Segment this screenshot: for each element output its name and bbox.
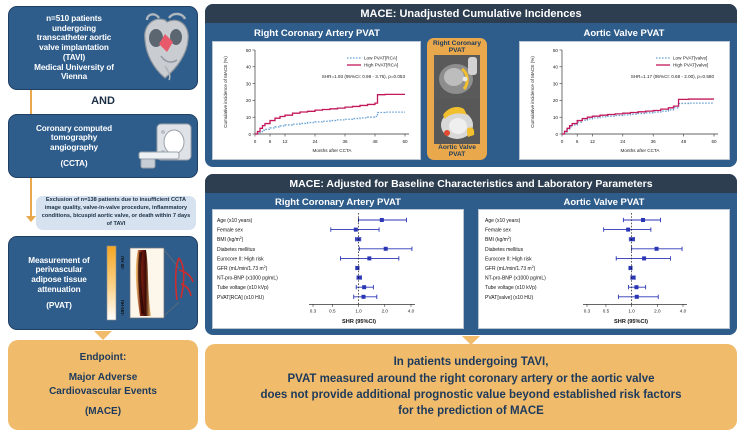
cohort-line-3: transcatheter aortic xyxy=(13,33,135,43)
colorbar-bottom-label: -190 HU xyxy=(120,300,125,316)
and-label: AND xyxy=(8,95,198,107)
measurement-line-5: (PVAT) xyxy=(13,301,105,311)
endpoint-card: Endpoint: Major Adverse Cardiovascular E… xyxy=(8,340,198,430)
svg-text:BMI (kg/m2): BMI (kg/m2) xyxy=(217,236,244,243)
svg-text:40: 40 xyxy=(553,65,559,70)
endpoint-line-2: Major Adverse xyxy=(49,371,157,386)
svg-text:Diabetes mellitus: Diabetes mellitus xyxy=(217,247,256,253)
km-rca-xticks: 061224364860 xyxy=(254,134,408,144)
svg-text:Tube voltage (x10 kVp): Tube voltage (x10 kVp) xyxy=(217,285,269,291)
svg-text:PVAT[valve] (x10 HU): PVAT[valve] (x10 HU) xyxy=(485,295,533,301)
svg-text:30: 30 xyxy=(553,81,559,86)
svg-text:0: 0 xyxy=(248,132,251,137)
forest-valve-subtitle: Aortic Valve PVAT xyxy=(478,197,730,208)
svg-text:10: 10 xyxy=(246,115,252,120)
imaging-line-2: tomography xyxy=(13,133,135,143)
svg-text:6: 6 xyxy=(576,139,579,144)
km-rca-legend: Low PVAT[RCA]High PVAT[RCA] xyxy=(347,56,398,68)
colorbar-top-label: -30 HU xyxy=(120,256,125,270)
forest-valve-xlabel: SHR (95%CI) xyxy=(614,319,648,325)
svg-text:Diabetes mellitus: Diabetes mellitus xyxy=(485,247,524,253)
km-valve-ylabel: Cumulative incidence of MACE (%) xyxy=(530,56,535,128)
connector-imaging-to-exclusion xyxy=(30,178,32,216)
svg-text:PVAT[RCA] (x10 HU): PVAT[RCA] (x10 HU) xyxy=(217,295,264,301)
measurement-line-3: adipose tissue xyxy=(13,275,105,285)
forest-valve-plot: Age (x10 years)Female sexBMI (kg/m2)Diab… xyxy=(478,209,730,329)
svg-text:20: 20 xyxy=(246,98,252,103)
svg-text:Female sex: Female sex xyxy=(217,228,243,234)
heart-anatomy-icon xyxy=(135,10,197,86)
svg-text:10: 10 xyxy=(553,115,559,120)
svg-text:Eurocore II: High risk: Eurocore II: High risk xyxy=(485,256,532,262)
svg-text:36: 36 xyxy=(342,139,348,144)
svg-text:High PVAT[RCA]: High PVAT[RCA] xyxy=(364,63,398,68)
svg-text:4.0: 4.0 xyxy=(408,308,415,313)
ct-bottom-caption: Aortic Valve PVAT xyxy=(429,144,485,159)
svg-text:20: 20 xyxy=(553,98,559,103)
km-rca-yticks: 01020304050 xyxy=(246,48,255,137)
km-rca-series xyxy=(255,94,405,134)
exclusion-box: Exclusion of n=138 patients due to insuf… xyxy=(36,196,196,230)
ct-image-valve xyxy=(434,99,480,144)
imaging-line-4: (CCTA) xyxy=(13,159,135,169)
km-valve-plot: 01020304050 061224364860 Cumulative inci… xyxy=(519,41,730,160)
km-rca-subtitle: Right Coronary Artery PVAT xyxy=(212,28,422,39)
forest-rca-svg: Age (x10 years)Female sexBMI (kg/m2)Diab… xyxy=(213,210,463,328)
arrow-to-measurement xyxy=(26,216,36,222)
svg-text:GFR (mL/min/1.73 m2): GFR (mL/min/1.73 m2) xyxy=(485,265,536,272)
svg-text:Age (x10 years): Age (x10 years) xyxy=(485,218,521,224)
km-valve-yticks: 01020304050 xyxy=(553,48,562,137)
forest-rca-subtitle: Right Coronary Artery PVAT xyxy=(212,197,464,208)
forest-rca-xlabel: SHR (95%CI) xyxy=(342,319,376,325)
measurement-card: Measurement of perivascular adipose tiss… xyxy=(8,236,198,330)
svg-text:24: 24 xyxy=(620,139,626,144)
endpoint-line-1: Endpoint: xyxy=(49,351,157,366)
svg-text:6: 6 xyxy=(269,139,272,144)
svg-text:NT-pro-BNP (x1000 pg/mL): NT-pro-BNP (x1000 pg/mL) xyxy=(217,276,278,282)
svg-text:0: 0 xyxy=(555,132,558,137)
imaging-line-3: angiography xyxy=(13,143,135,153)
forest-rca-rows: Age (x10 years)Female sexBMI (kg/m2)Diab… xyxy=(217,218,412,301)
forest-valve-svg: Age (x10 years)Female sexBMI (kg/m2)Diab… xyxy=(479,210,729,328)
svg-text:BMI (kg/m2): BMI (kg/m2) xyxy=(485,236,512,243)
conclusion-line-3: does not provide additional prognostic v… xyxy=(260,387,681,403)
forest-valve-rows: Age (x10 years)Female sexBMI (kg/m2)Diab… xyxy=(485,218,682,301)
conclusion-line-1: In patients undergoing TAVI, xyxy=(260,354,681,370)
cohort-line-1: n=510 patients xyxy=(13,14,135,24)
arrow-to-endpoint xyxy=(94,331,112,340)
endpoint-line-4: (MACE) xyxy=(49,405,157,420)
imaging-line-1: Coronary computed xyxy=(13,124,135,134)
svg-text:GFR (mL/min/1.73 m2): GFR (mL/min/1.73 m2) xyxy=(217,265,268,272)
svg-text:50: 50 xyxy=(246,48,252,53)
km-valve-svg: 01020304050 061224364860 Cumulative inci… xyxy=(520,42,729,159)
svg-text:0.5: 0.5 xyxy=(329,308,336,313)
svg-text:40: 40 xyxy=(246,65,252,70)
conclusion-line-2: PVAT measured around the right coronary … xyxy=(260,371,681,387)
svg-text:0: 0 xyxy=(561,139,564,144)
endpoint-line-3: Cardiovascular Events xyxy=(49,385,157,400)
cohort-card: n=510 patients undergoing transcatheter … xyxy=(8,6,198,90)
pvat-attenuation-figure: -30 HU -190 HU xyxy=(105,240,197,326)
km-rca-ylabel: Cumulative incidence of MACE (%) xyxy=(223,56,228,128)
ct-top-caption: Right Coronary PVAT xyxy=(429,40,485,55)
svg-text:1.0: 1.0 xyxy=(628,308,635,313)
svg-text:0: 0 xyxy=(254,139,257,144)
svg-text:48: 48 xyxy=(372,139,378,144)
svg-text:1.0: 1.0 xyxy=(355,308,362,313)
svg-text:2.0: 2.0 xyxy=(382,308,389,313)
svg-text:12: 12 xyxy=(590,139,596,144)
km-valve-xlabel: Months after CCTA xyxy=(621,148,661,153)
forest-rca-plot: Age (x10 years)Female sexBMI (kg/m2)Diab… xyxy=(212,209,464,329)
km-valve-annotation: SHR=1.17 (95%CI: 0.68 - 2.00), p=0.580 xyxy=(631,74,715,79)
svg-text:60: 60 xyxy=(402,139,408,144)
svg-text:60: 60 xyxy=(711,139,717,144)
ct-scanner-icon xyxy=(135,118,197,174)
cohort-line-5: (TAVI) xyxy=(13,53,135,63)
svg-text:24: 24 xyxy=(312,139,318,144)
cohort-line-6: Medical University of xyxy=(13,63,135,73)
svg-text:Age (x10 years): Age (x10 years) xyxy=(217,218,253,224)
svg-text:12: 12 xyxy=(282,139,288,144)
ct-image-panel: Right Coronary PVAT Aortic Valve PVAT xyxy=(427,38,487,160)
svg-text:30: 30 xyxy=(246,81,252,86)
km-rca-xlabel: Months after CCTA xyxy=(313,148,353,153)
svg-text:48: 48 xyxy=(681,139,687,144)
panel-adjusted-header: MACE: Adjusted for Baseline Characterist… xyxy=(205,174,737,193)
svg-text:0.3: 0.3 xyxy=(584,308,591,313)
svg-text:Tube voltage (x10 kVp): Tube voltage (x10 kVp) xyxy=(485,285,537,291)
measurement-line-4: attenuation xyxy=(13,285,105,295)
cohort-line-7: Vienna xyxy=(13,72,135,82)
imaging-card: Coronary computed tomography angiography… xyxy=(8,114,198,178)
cohort-line-4: valve implantation xyxy=(13,43,135,53)
measurement-line-1: Measurement of xyxy=(13,256,105,266)
panel-unadjusted-header: MACE: Unadjusted Cumulative Incidences xyxy=(205,4,737,23)
measurement-line-2: perivascular xyxy=(13,265,105,275)
km-valve-legend: Low PVAT[valve]High PVAT[valve] xyxy=(656,56,708,68)
ct-image-rca xyxy=(434,55,480,100)
svg-text:0.5: 0.5 xyxy=(603,308,610,313)
svg-text:Female sex: Female sex xyxy=(485,228,511,234)
svg-text:Low PVAT[valve]: Low PVAT[valve] xyxy=(673,56,707,61)
km-valve-series xyxy=(562,99,714,134)
km-valve-subtitle: Aortic Valve PVAT xyxy=(518,28,730,39)
km-rca-annotation: SHR=1.93 (95%CI: 0.98 - 3.76), p=0.053 xyxy=(322,74,406,79)
km-rca-plot: 01020304050 061224364860 Cumulative inci… xyxy=(212,41,421,160)
svg-text:Low PVAT[RCA]: Low PVAT[RCA] xyxy=(364,56,397,61)
svg-text:Eurocore II: High risk: Eurocore II: High risk xyxy=(217,256,264,262)
svg-text:NT-pro-BNP (x1000 pg/mL): NT-pro-BNP (x1000 pg/mL) xyxy=(485,276,546,282)
conclusion-line-4: for the prediction of MACE xyxy=(260,403,681,419)
svg-text:High PVAT[valve]: High PVAT[valve] xyxy=(673,63,708,68)
conclusion-card: In patients undergoing TAVI, PVAT measur… xyxy=(205,344,737,430)
svg-text:36: 36 xyxy=(651,139,657,144)
svg-text:4.0: 4.0 xyxy=(680,308,687,313)
svg-text:2.0: 2.0 xyxy=(654,308,661,313)
svg-text:0.3: 0.3 xyxy=(310,308,317,313)
svg-text:50: 50 xyxy=(553,48,559,53)
cohort-line-2: undergoing xyxy=(13,24,135,34)
km-rca-svg: 01020304050 061224364860 Cumulative inci… xyxy=(213,42,420,159)
km-valve-xticks: 061224364860 xyxy=(561,134,717,144)
